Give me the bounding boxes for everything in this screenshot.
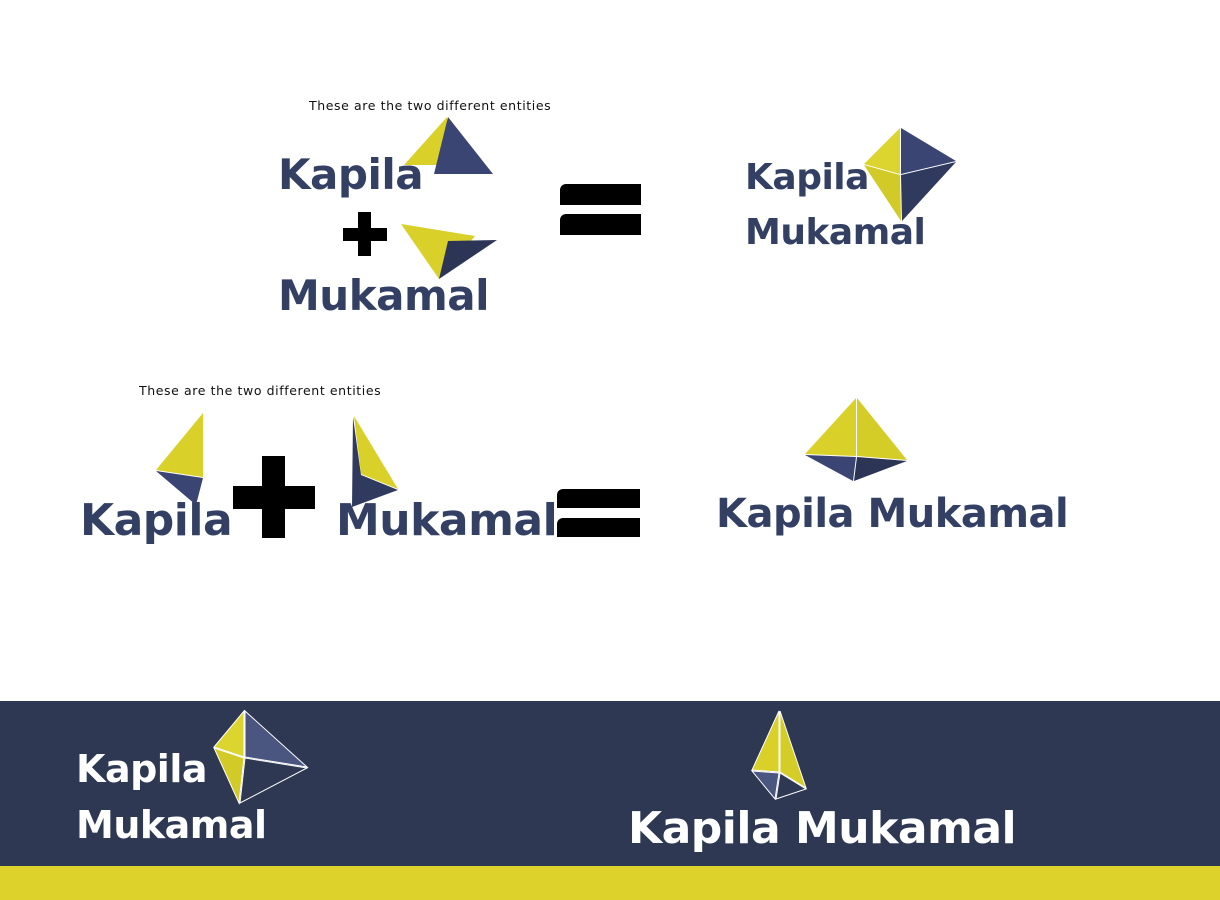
row1-left-plus-icon [343, 212, 387, 256]
row1-left-brand-line1: Kapila [278, 154, 423, 197]
footer-left-brand-line1: Kapila [76, 750, 207, 789]
footer-right-brand: Kapila Mukamal [628, 807, 1016, 852]
row2-caption: These are the two different entities [139, 383, 381, 398]
row1-caption: These are the two different entities [309, 98, 551, 113]
row2-triangle-mark-kapila [148, 413, 210, 505]
row1-equals-icon [560, 184, 641, 235]
row2-equals-icon [557, 489, 640, 537]
row2-middle-brand: Mukamal [336, 499, 557, 544]
footer-diamond-3d-outline-mark [202, 711, 314, 807]
footer-left-brand-line2: Mukamal [76, 806, 267, 845]
row2-right-brand: Kapila Mukamal [716, 494, 1068, 535]
row1-right-brand-line1: Kapila [745, 160, 869, 197]
row1-right-brand-line2: Mukamal [745, 215, 925, 252]
row1-triangle-mark-kapila [404, 117, 499, 179]
footer-yellow-band [0, 866, 1220, 900]
footer-pyramid-3d-outline-mark [726, 711, 832, 803]
row2-pyramid-3d-mark [803, 398, 911, 482]
row2-left-brand: Kapila [80, 499, 232, 544]
row2-plus-icon [233, 456, 315, 538]
row1-arrow-mark-mukamal [401, 224, 501, 286]
